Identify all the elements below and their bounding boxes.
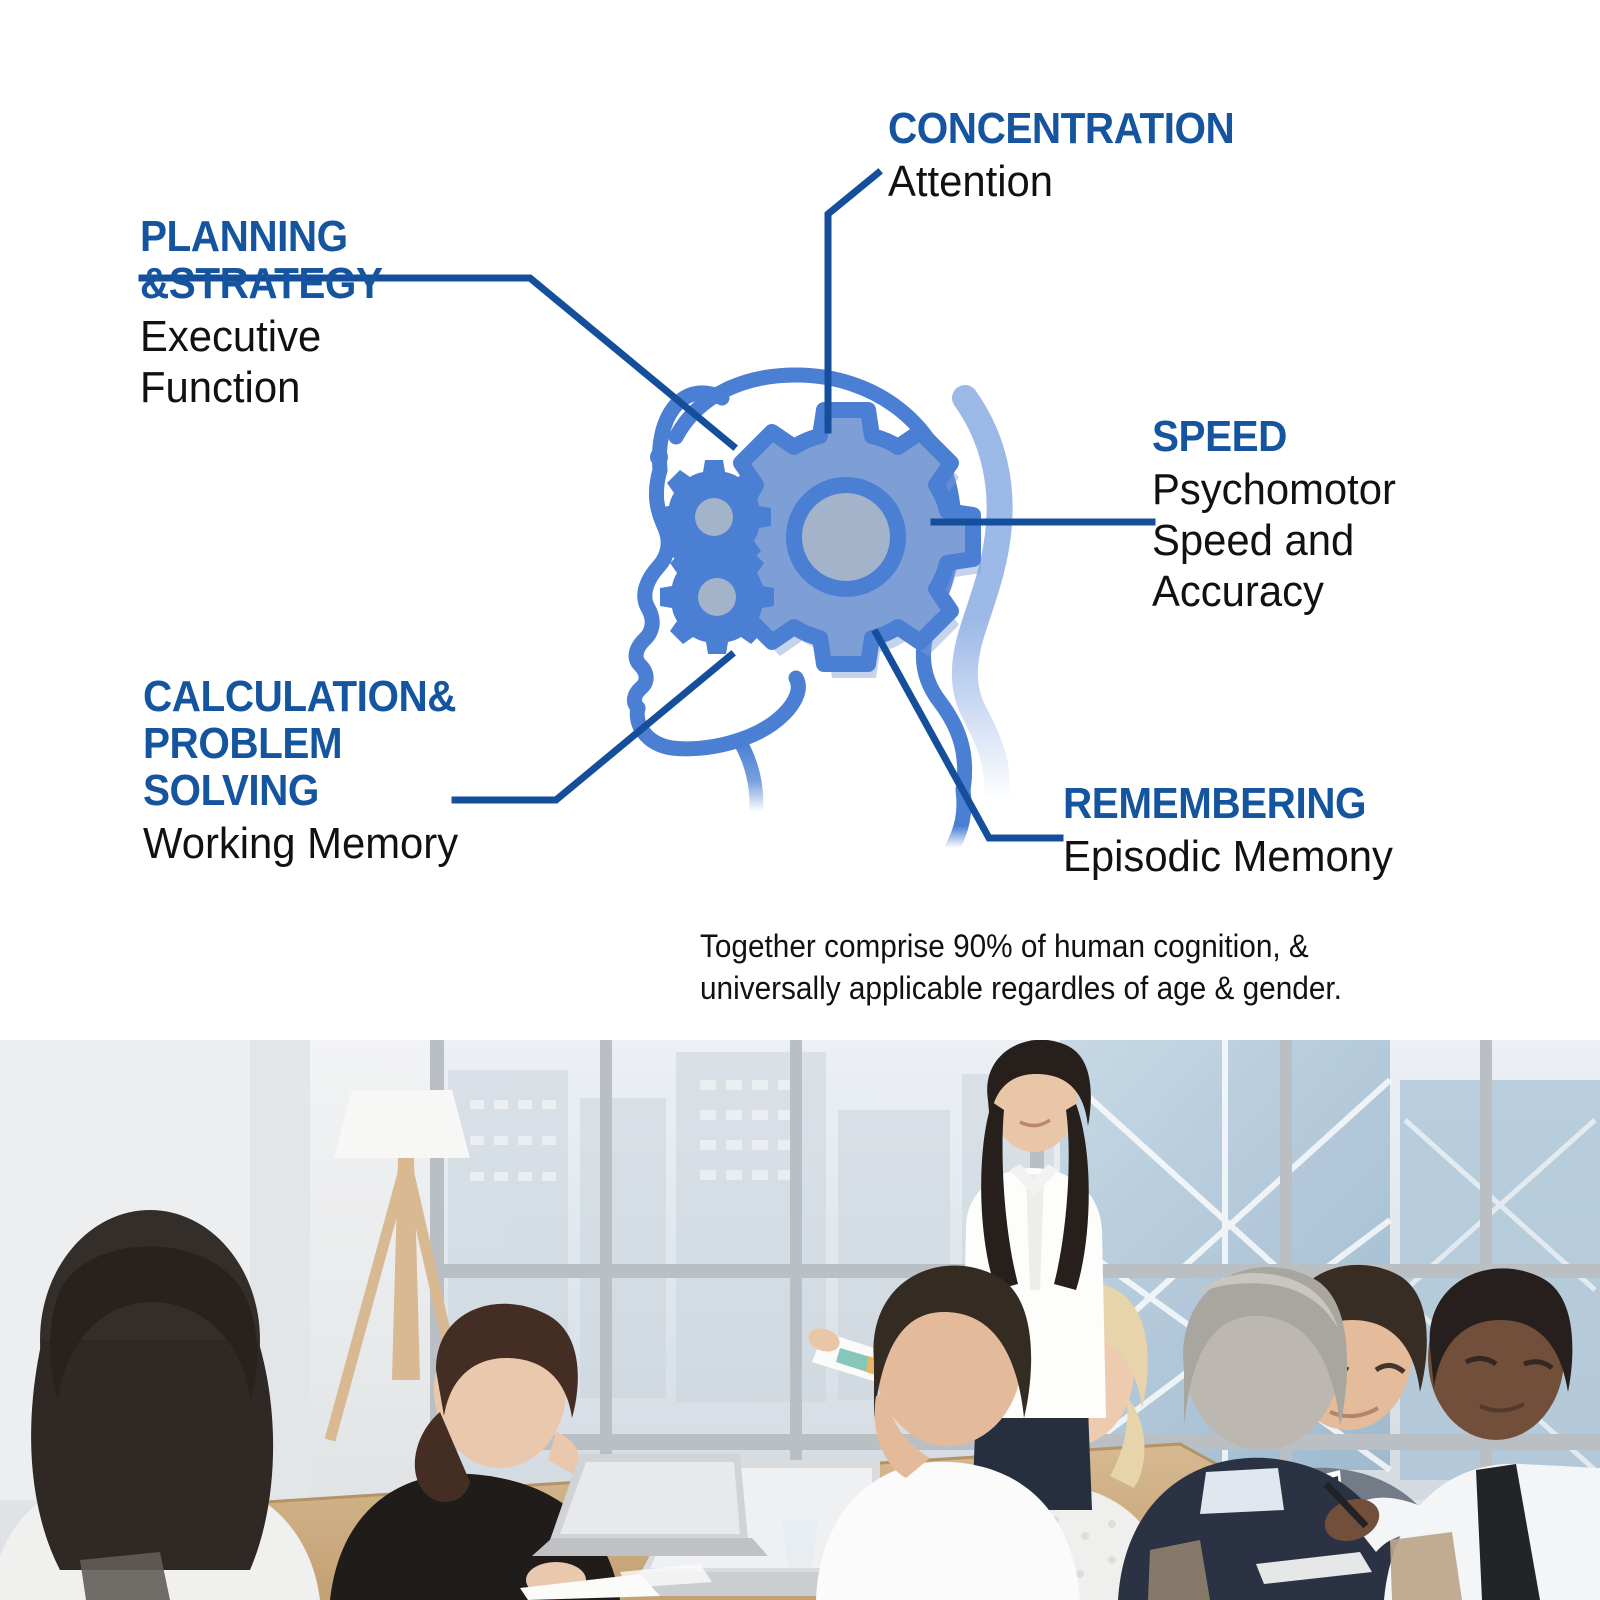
callout-concentration: CONCENTRATION Attention [888,105,1264,207]
callout-remembering-title: REMEMBERING [1063,780,1382,827]
meeting-photo-illustration [0,1040,1600,1600]
summary-caption: Together comprise 90% of human cognition… [700,925,1435,1009]
callout-planning-subtitle: Executive Function [140,311,390,413]
callout-concentration-subtitle: Attention [888,156,1246,207]
caption-line-2: universally applicable regardles of age … [700,967,1435,1009]
callout-calculation-subtitle: Working Memory [143,818,466,869]
small-gear-lower [660,540,774,654]
callout-planning: PLANNING &STRATEGY Executive Function [140,213,404,413]
callout-calculation-title: CALCULATION& PROBLEM SOLVING [143,673,456,814]
callout-remembering: REMEMBERING Episodic Memony [1063,780,1410,882]
large-gear [719,410,981,678]
meeting-photo: Group of business people seated around a… [0,1040,1600,1600]
infographic-page: PLANNING &STRATEGY Executive Function CO… [0,0,1600,1600]
callout-speed: SPEED Psychomotor Speed and Accuracy [1152,413,1409,617]
callout-speed-subtitle: Psychomotor Speed and Accuracy [1152,464,1396,617]
caption-line-1: Together comprise 90% of human cognition… [700,925,1435,967]
callout-calculation: CALCULATION& PROBLEM SOLVING Working Mem… [143,673,483,869]
callout-speed-title: SPEED [1152,413,1388,460]
callout-planning-title: PLANNING &STRATEGY [140,213,383,307]
callout-remembering-subtitle: Episodic Memony [1063,831,1393,882]
cognition-diagram: PLANNING &STRATEGY Executive Function CO… [0,0,1600,1040]
callout-concentration-title: CONCENTRATION [888,105,1234,152]
